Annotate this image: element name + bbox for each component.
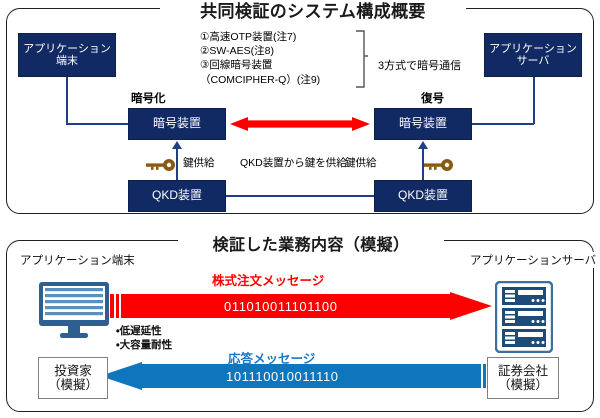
method-item-1: ①高速OTP装置(注7) <box>200 30 320 44</box>
label-key-supply-right: 鍵供給 <box>345 157 377 170</box>
method-item-2: ②SW-AES(注8) <box>200 44 320 58</box>
double-headed-arrow-icon <box>230 117 370 131</box>
server-rack-icon <box>495 281 553 353</box>
label-key-supply-left: 鍵供給 <box>183 157 215 170</box>
method-item-4: （COMCIPHER-Q）(注9) <box>200 73 320 87</box>
monitor-icon <box>38 281 110 339</box>
label-order-message: 株式注文メッセージ <box>212 270 324 289</box>
label-response-message: 応答メッセージ <box>228 348 315 367</box>
label-three-method-note: 3方式で暗号通信 <box>378 60 461 74</box>
box-brokerage-firm: 証券会社 （模擬） <box>487 357 559 399</box>
order-message-bits: 011010011101100 <box>224 299 338 314</box>
box-application-terminal: アプリケーション 端末 <box>18 33 116 77</box>
box-crypto-device-left: 暗号装置 <box>128 108 226 140</box>
method-item-3: ③回線暗号装置 <box>200 58 320 72</box>
requirement-bullets: ・低遅延性 ・大容量耐性 <box>116 325 172 352</box>
wire-terminal-to-crypto-left-h <box>66 123 129 125</box>
bottom-panel-title: 検証した業務内容（模擬） <box>178 236 444 255</box>
wire-server-to-crypto-right <box>533 77 535 124</box>
wire-server-to-crypto-right-h <box>472 123 534 125</box>
key-icon <box>424 158 454 172</box>
wire-qkd-to-qkd <box>226 195 374 197</box>
label-encryption: 暗号化 <box>131 92 166 106</box>
wire-terminal-to-crypto-left <box>66 77 68 124</box>
response-message-bits: 101110010011110 <box>226 369 339 384</box>
box-investor: 投資家 （模擬） <box>38 357 108 399</box>
box-qkd-device-left: QKD装置 <box>128 180 226 212</box>
key-icon <box>146 158 176 172</box>
label-decryption: 復号 <box>421 92 444 106</box>
box-crypto-device-right: 暗号装置 <box>374 108 472 140</box>
box-qkd-device-right: QKD装置 <box>374 180 472 212</box>
label-application-server: アプリケーションサーバ <box>468 252 598 268</box>
label-application-terminal: アプリケーション端末 <box>18 252 137 268</box>
brace-icon <box>355 30 369 88</box>
top-panel-title: 共同検証のシステム構成概要 <box>160 2 466 22</box>
label-qkd-key-supply-note: QKD装置から鍵を供給 <box>240 157 347 170</box>
key-supply-arrow-left-icon <box>176 148 178 180</box>
encryption-method-list: ①高速OTP装置(注7) ②SW-AES(注8) ③回線暗号装置 （COMCIP… <box>200 30 320 87</box>
box-application-server: アプリケーション サーバ <box>484 33 582 77</box>
